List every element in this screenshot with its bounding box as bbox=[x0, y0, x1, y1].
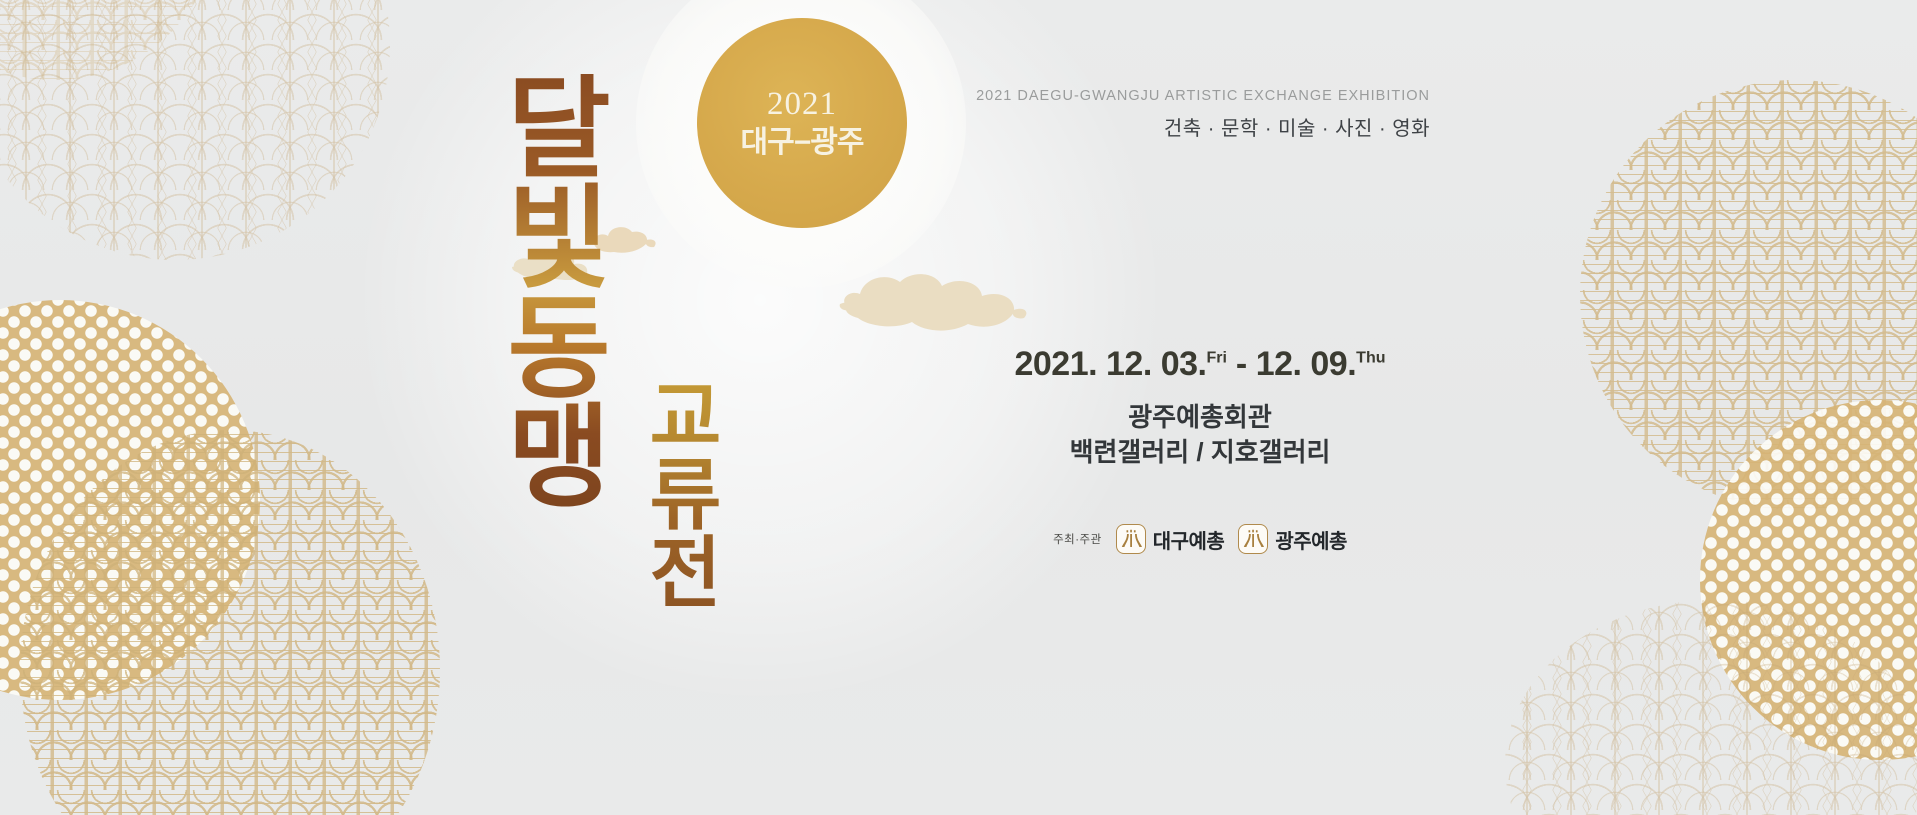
subtitle-char: 전 bbox=[638, 534, 733, 612]
venue-name: 광주예총회관 bbox=[960, 400, 1440, 435]
organizer-name: 광주예총 bbox=[1275, 525, 1347, 554]
organizer-item: 광주예총 bbox=[1238, 524, 1347, 554]
date-separator: - bbox=[1236, 345, 1247, 383]
moon-year: 2021 bbox=[767, 88, 837, 121]
date-end-day: Thu bbox=[1356, 350, 1385, 367]
exhibition-dates: 2021. 12. 03.Fri - 12. 09.Thu bbox=[960, 345, 1440, 384]
subtitle-char: 교 bbox=[638, 378, 733, 456]
organizers-row: 주최·주관 대구예총 bbox=[960, 524, 1440, 554]
yechong-logo-icon bbox=[1116, 524, 1146, 554]
title-char: 맹 bbox=[494, 403, 624, 513]
poster-canvas: 2021 대구−광주 달 빛 동 맹 교 류 전 2021 DAEGU- bbox=[0, 0, 1917, 815]
genre-list: 건축 · 문학 · 미술 · 사진 · 영화 bbox=[1164, 112, 1430, 141]
moon-cities: 대구−광주 bbox=[741, 128, 864, 158]
fan-pattern-circle bbox=[0, 0, 390, 260]
english-subtitle: 2021 DAEGU-GWANGJU ARTISTIC EXCHANGE EXH… bbox=[976, 88, 1430, 104]
date-start-day: Fri bbox=[1207, 350, 1227, 367]
page-title-sub: 교 류 전 bbox=[638, 378, 733, 612]
host-label: 주최·주관 bbox=[1053, 531, 1102, 547]
organizer-name: 대구예총 bbox=[1153, 525, 1225, 554]
subtitle-char: 류 bbox=[638, 456, 733, 534]
venue-galleries: 백련갤러리 / 지호갤러리 bbox=[960, 435, 1440, 470]
venue-block: 광주예총회관 백련갤러리 / 지호갤러리 bbox=[960, 400, 1440, 470]
moon-badge: 2021 대구−광주 bbox=[697, 18, 907, 228]
organizer-item: 대구예총 bbox=[1116, 524, 1225, 554]
title-char: 동 bbox=[494, 294, 624, 404]
page-title-main: 달 빛 동 맹 bbox=[494, 74, 624, 513]
date-end: 12. 09. bbox=[1256, 345, 1356, 383]
title-char: 빛 bbox=[494, 184, 624, 294]
info-block: 2021 DAEGU-GWANGJU ARTISTIC EXCHANGE EXH… bbox=[960, 0, 1440, 815]
yechong-logo-icon bbox=[1238, 524, 1268, 554]
title-char: 달 bbox=[494, 74, 624, 184]
date-start: 2021. 12. 03. bbox=[1014, 345, 1206, 383]
